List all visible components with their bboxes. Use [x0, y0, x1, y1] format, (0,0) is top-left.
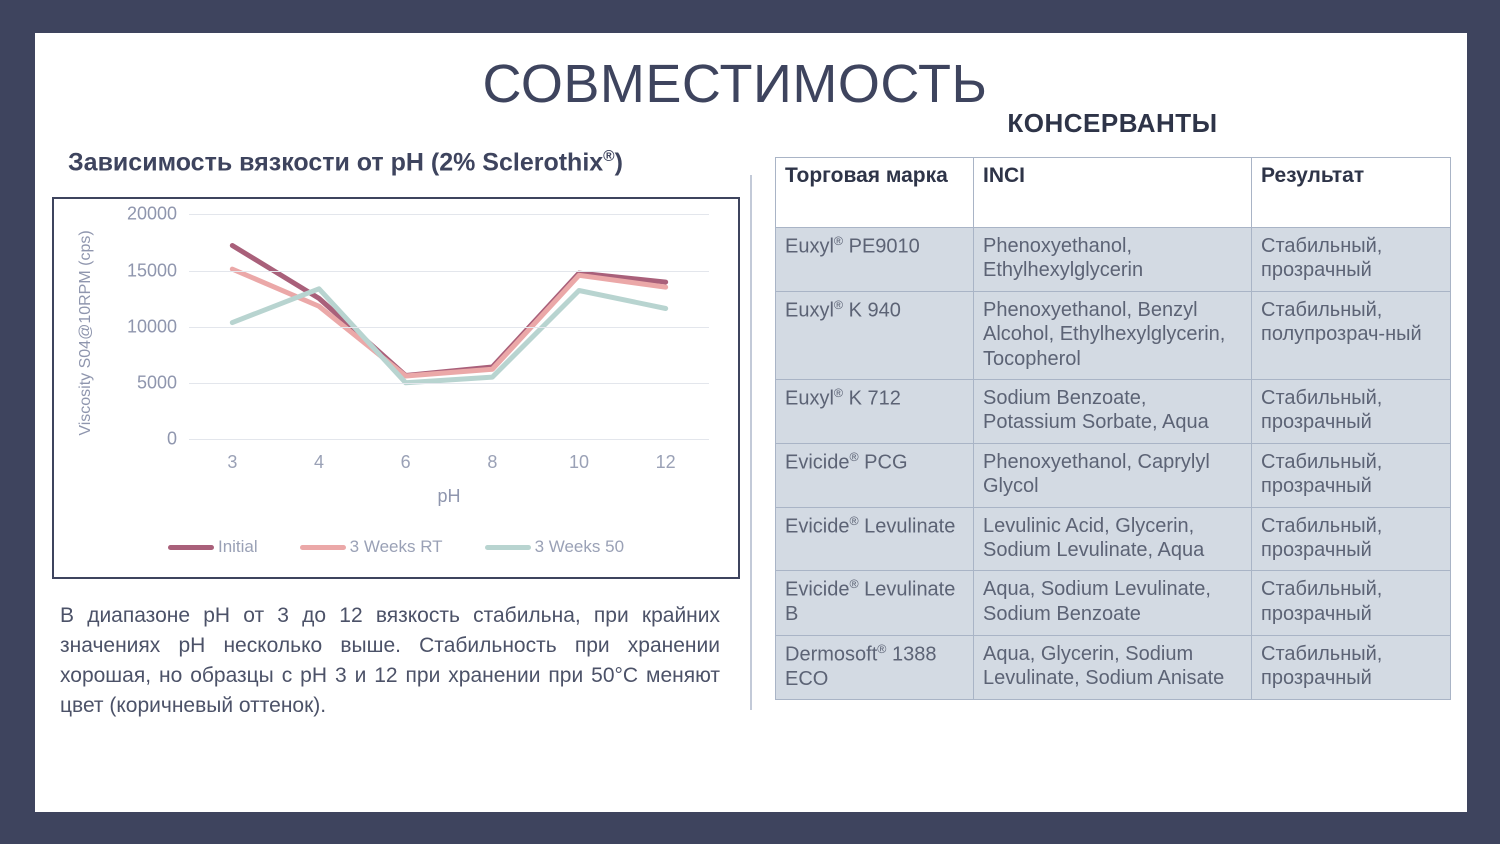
x-tick-label: 6	[401, 452, 411, 473]
cell-result: Стабильный, прозрачный	[1252, 379, 1451, 443]
cell-result: Стабильный, полупрозрач-ный	[1252, 291, 1451, 379]
table-row: Evicide® Levulinate BAqua, Sodium Levuli…	[776, 571, 1451, 635]
x-tick-label: 8	[487, 452, 497, 473]
table-row: Dermosoft® 1388 ECOAqua, Glycerin, Sodiu…	[776, 635, 1451, 699]
table-row: Evicide® PCGPhenoxyethanol, Caprylyl Gly…	[776, 443, 1451, 507]
legend-item[interactable]: Initial	[168, 537, 258, 557]
legend-label: 3 Weeks RT	[350, 537, 443, 557]
grid-line	[189, 383, 709, 384]
column-header-inci: INCI	[974, 158, 1252, 228]
column-divider	[750, 175, 752, 710]
y-tick-label: 15000	[105, 260, 177, 281]
grid-line	[189, 327, 709, 328]
preservatives-table: Торговая марка INCI Результат Euxyl® PE9…	[775, 157, 1451, 700]
grid-line	[189, 271, 709, 272]
table-header-row: Торговая марка INCI Результат	[776, 158, 1451, 228]
legend-item[interactable]: 3 Weeks 50	[485, 537, 624, 557]
y-tick-label: 20000	[105, 204, 177, 225]
cell-brand: Dermosoft® 1388 ECO	[776, 635, 974, 699]
x-tick-label: 12	[656, 452, 676, 473]
chart-legend: Initial3 Weeks RT3 Weeks 50	[54, 537, 738, 557]
cell-result: Стабильный, прозрачный	[1252, 635, 1451, 699]
chart-plot-area: 34681012 pH	[189, 214, 709, 439]
summary-paragraph: В диапазоне pH от 3 до 12 вязкость стаби…	[60, 601, 720, 720]
x-tick-label: 4	[314, 452, 324, 473]
chart-subtitle: Зависимость вязкости от pH (2% Sclerothi…	[68, 148, 752, 177]
cell-inci: Phenoxyethanol, Benzyl Alcohol, Ethylhex…	[974, 291, 1252, 379]
page-title: СОВМЕСТИМОСТЬ	[35, 53, 1435, 115]
slide-panel: СОВМЕСТИМОСТЬ Зависимость вязкости от pH…	[35, 33, 1467, 812]
y-tick-label: 0	[105, 429, 177, 450]
cell-result: Стабильный, прозрачный	[1252, 571, 1451, 635]
cell-inci: Aqua, Glycerin, Sodium Levulinate, Sodiu…	[974, 635, 1252, 699]
cell-brand: Evicide® Levulinate	[776, 507, 974, 571]
chart-y-axis-title: Viscosity S04@10RPM (cps)	[77, 213, 95, 453]
table-row: Evicide® LevulinateLevulinic Acid, Glyce…	[776, 507, 1451, 571]
column-header-result: Результат	[1252, 158, 1451, 228]
y-tick-label: 5000	[105, 373, 177, 394]
legend-swatch-icon	[300, 545, 346, 550]
chart-x-axis-title: pH	[189, 486, 709, 507]
legend-label: Initial	[218, 537, 258, 557]
x-tick-label: 3	[227, 452, 237, 473]
table-row: Euxyl® PE9010Phenoxyethanol, Ethylhexylg…	[776, 228, 1451, 292]
cell-inci: Sodium Benzoate, Potassium Sorbate, Aqua	[974, 379, 1252, 443]
cell-inci: Levulinic Acid, Glycerin, Sodium Levulin…	[974, 507, 1252, 571]
legend-item[interactable]: 3 Weeks RT	[300, 537, 443, 557]
chart-container: Viscosity S04@10RPM (cps) 05000100001500…	[52, 197, 740, 579]
grid-line	[189, 214, 709, 215]
legend-swatch-icon	[168, 545, 214, 550]
series-line	[232, 246, 665, 376]
table-row: Euxyl® K 712Sodium Benzoate, Potassium S…	[776, 379, 1451, 443]
cell-brand: Euxyl® K 940	[776, 291, 974, 379]
cell-brand: Evicide® Levulinate B	[776, 571, 974, 635]
y-tick-label: 10000	[105, 316, 177, 337]
series-line	[232, 289, 665, 383]
cell-result: Стабильный, прозрачный	[1252, 228, 1451, 292]
column-header-brand: Торговая марка	[776, 158, 974, 228]
cell-brand: Euxyl® PE9010	[776, 228, 974, 292]
cell-brand: Evicide® PCG	[776, 443, 974, 507]
left-column: Зависимость вязкости от pH (2% Sclerothi…	[52, 148, 752, 721]
right-column: КОНСЕРВАНТЫ Торговая марка INCI Результа…	[775, 108, 1450, 700]
x-tick-label: 10	[569, 452, 589, 473]
grid-line	[189, 439, 709, 440]
legend-label: 3 Weeks 50	[535, 537, 624, 557]
cell-inci: Aqua, Sodium Levulinate, Sodium Benzoate	[974, 571, 1252, 635]
cell-brand: Euxyl® K 712	[776, 379, 974, 443]
cell-result: Стабильный, прозрачный	[1252, 443, 1451, 507]
legend-swatch-icon	[485, 545, 531, 550]
cell-result: Стабильный, прозрачный	[1252, 507, 1451, 571]
preservatives-heading: КОНСЕРВАНТЫ	[775, 108, 1450, 139]
cell-inci: Phenoxyethanol, Ethylhexylglycerin	[974, 228, 1252, 292]
table-row: Euxyl® K 940Phenoxyethanol, Benzyl Alcoh…	[776, 291, 1451, 379]
cell-inci: Phenoxyethanol, Caprylyl Glycol	[974, 443, 1252, 507]
